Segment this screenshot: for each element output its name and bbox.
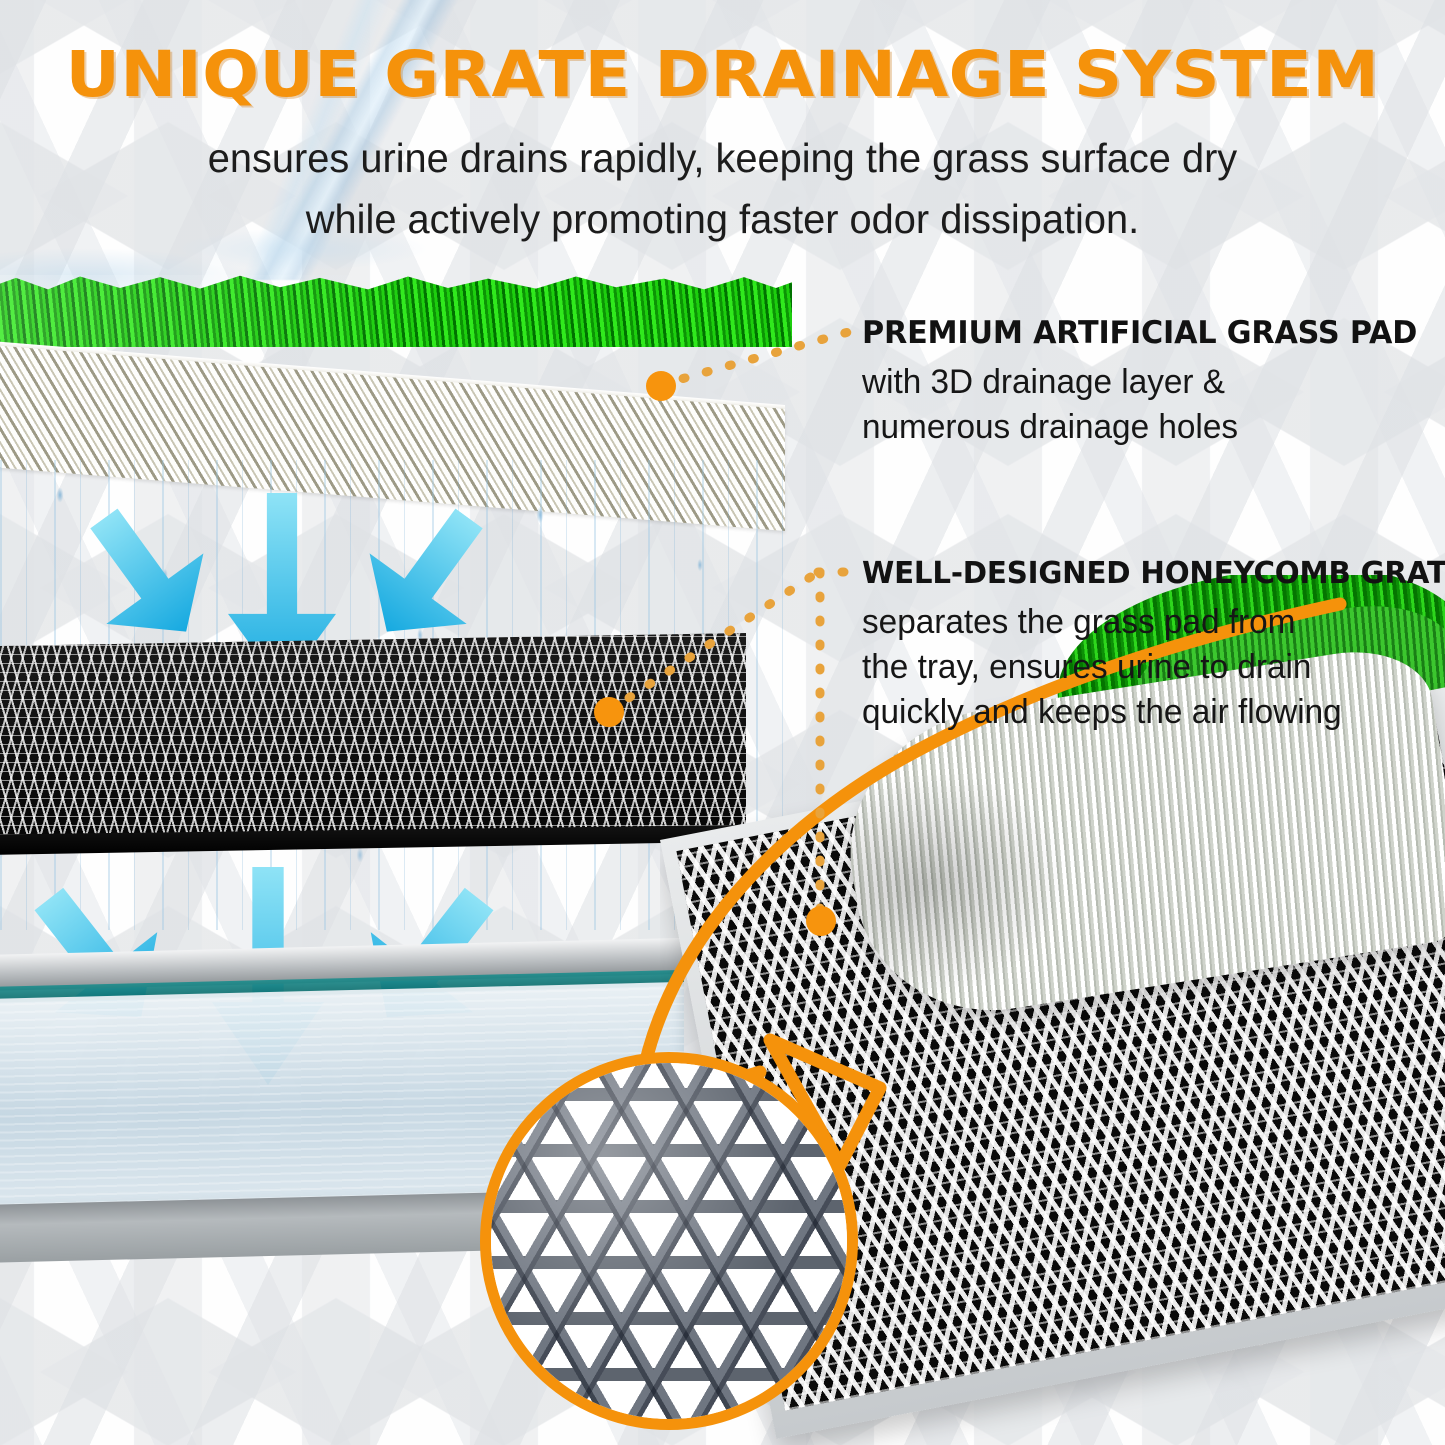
callout-grass-pad-line-2: numerous drainage holes	[862, 405, 1426, 450]
callout-honeycomb-grate-heading: WELL-DESIGNED HONEYCOMB GRATE	[862, 556, 1417, 591]
callout-honeycomb-grate-body: separates the grass pad from the tray, e…	[862, 600, 1428, 735]
magnifier-gloss	[491, 1063, 847, 1419]
subtitle-line-1: ensures urine drains rapidly, keeping th…	[22, 128, 1424, 189]
callout-honeycomb-grate: WELL-DESIGNED HONEYCOMB GRATE separates …	[862, 556, 1440, 735]
callout-honeycomb-grate-line-1: separates the grass pad from	[862, 600, 1428, 645]
callout-grass-pad-line-1: with 3D drainage layer &	[862, 360, 1426, 405]
page-title: UNIQUE GRATE DRAINAGE SYSTEM	[0, 38, 1445, 111]
subtitle-line-2: while actively promoting faster odor dis…	[22, 189, 1424, 250]
artificial-grass-layer	[0, 275, 792, 347]
magnifier-lens	[480, 1052, 858, 1430]
callout-grass-pad-heading: PREMIUM ARTIFICIAL GRASS PAD	[862, 315, 1414, 351]
honeycomb-grate-layer	[0, 633, 746, 853]
callout-honeycomb-grate-line-2: the tray, ensures urine to drain	[862, 645, 1428, 690]
callout-grass-pad-body: with 3D drainage layer & numerous draina…	[862, 360, 1426, 450]
honeycomb-closeup-magnifier	[470, 1020, 920, 1445]
page-subtitle: ensures urine drains rapidly, keeping th…	[22, 128, 1424, 249]
callout-honeycomb-grate-line-3: quickly and keeps the air flowing	[862, 690, 1428, 735]
infographic-canvas: UNIQUE GRATE DRAINAGE SYSTEM ensures uri…	[0, 0, 1445, 1445]
callout-grass-pad: PREMIUM ARTIFICIAL GRASS PAD with 3D dra…	[862, 315, 1437, 450]
